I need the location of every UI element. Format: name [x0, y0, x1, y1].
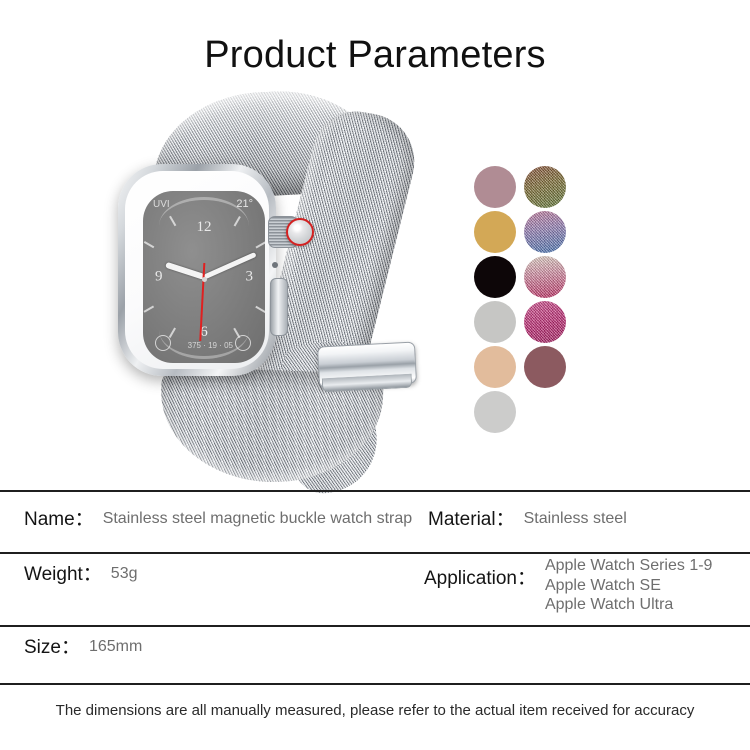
- spec-label-size: Size：: [24, 637, 80, 659]
- dial-uv-label: UVI: [153, 199, 170, 210]
- spec-row-name: Name： Stainless steel magnetic buckle wa…: [24, 509, 412, 531]
- watch-bezel: UVI 21° 12 3 6 9 375 ·: [125, 171, 269, 369]
- spec-label-weight: Weight：: [24, 564, 102, 586]
- spec-label-material: Material：: [428, 509, 515, 531]
- application-line: Apple Watch Ultra: [545, 595, 712, 615]
- table-divider: [0, 683, 750, 685]
- watch-case: UVI 21° 12 3 6 9 375 ·: [118, 164, 276, 376]
- color-swatch-rust-olive-gradient[interactable]: [524, 166, 566, 208]
- color-swatch-gold-tan[interactable]: [474, 211, 516, 253]
- dial-number-3: 3: [246, 269, 254, 286]
- color-swatch-grid: [474, 166, 574, 436]
- spec-row-application: Application： Apple Watch Series 1-9 Appl…: [424, 556, 712, 615]
- spec-label-application: Application：: [424, 556, 536, 590]
- footer-note: The dimensions are all manually measured…: [0, 702, 750, 719]
- dial-number-12: 12: [197, 219, 212, 236]
- color-swatch-cream-magenta-gradient[interactable]: [524, 256, 566, 298]
- spec-value-material: Stainless steel: [524, 509, 627, 529]
- color-swatch-pink-blue-gradient[interactable]: [524, 211, 566, 253]
- dial-complication-right: [235, 335, 251, 351]
- color-swatch-dusty-mauve[interactable]: [474, 166, 516, 208]
- dial-sub-label: 375 · 19 · 05: [188, 341, 233, 350]
- watch-hour-hand: [165, 262, 205, 280]
- table-divider: [0, 490, 750, 492]
- color-swatch-black[interactable]: [474, 256, 516, 298]
- dial-tick: [144, 241, 154, 248]
- spec-row-size: Size： 165mm: [24, 637, 142, 659]
- dial-complication-left: [155, 335, 171, 351]
- watch-screen: UVI 21° 12 3 6 9 375 ·: [143, 191, 265, 363]
- dial-tick: [255, 306, 265, 313]
- dial-temperature: 21°: [236, 198, 253, 210]
- spec-value-application: Apple Watch Series 1-9 Apple Watch SE Ap…: [545, 556, 712, 615]
- microphone-icon: [272, 262, 278, 268]
- application-line: Apple Watch SE: [545, 576, 712, 596]
- digital-crown-red-ring-icon: [286, 218, 314, 246]
- spec-value-name: Stainless steel magnetic buckle watch st…: [103, 509, 412, 529]
- spec-row-weight: Weight： 53g: [24, 564, 138, 586]
- product-image: UVI 21° 12 3 6 9 375 ·: [0, 92, 750, 472]
- spec-value-weight: 53g: [111, 564, 138, 584]
- watch-side-button: [270, 278, 288, 336]
- dial-number-9: 9: [155, 269, 163, 286]
- application-line: Apple Watch Series 1-9: [545, 556, 712, 576]
- dial-tick: [255, 241, 265, 248]
- color-swatch-silver-gray[interactable]: [474, 391, 516, 433]
- table-divider: [0, 552, 750, 554]
- color-swatch-mauve-brown[interactable]: [524, 346, 566, 388]
- color-swatch-light-gray[interactable]: [474, 301, 516, 343]
- watch-hand-pin: [202, 277, 207, 282]
- spec-value-size: 165mm: [89, 637, 142, 657]
- spec-label-name: Name：: [24, 509, 94, 531]
- dial-tick: [144, 306, 154, 313]
- spec-row-material: Material： Stainless steel: [428, 509, 627, 531]
- page-title: Product Parameters: [0, 34, 750, 77]
- table-divider: [0, 625, 750, 627]
- color-swatch-beige-tan[interactable]: [474, 346, 516, 388]
- color-swatch-magenta[interactable]: [524, 301, 566, 343]
